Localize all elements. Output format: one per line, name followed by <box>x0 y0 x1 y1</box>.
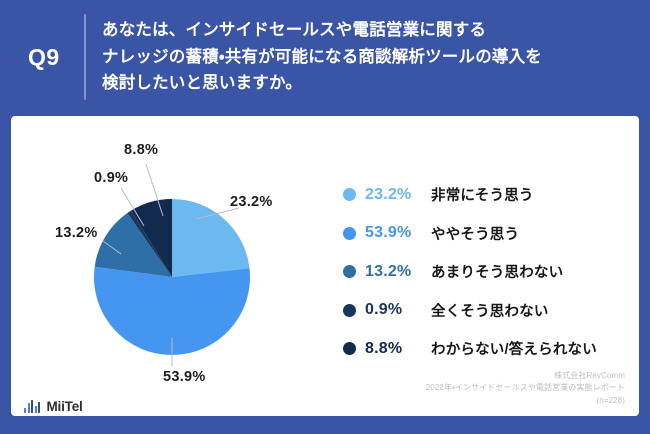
legend-percent: 0.9% <box>365 301 431 319</box>
legend-row: 0.9%全くそう思わない <box>343 294 633 327</box>
legend-color-dot <box>343 188 356 201</box>
header-divider <box>84 14 86 100</box>
question-text: あなたは、インサイドセールスや電話営業に関する ナレッジの蓄積・共有が可能になる… <box>102 17 542 97</box>
credits-company: 株式会社RevComm <box>426 370 625 382</box>
slide-root: Q9 あなたは、インサイドセールスや電話営業に関する ナレッジの蓄積・共有が可能… <box>0 0 650 434</box>
legend-label: 非常にそう思う <box>431 184 534 205</box>
pie-label-somewhat-disagree: 13.2% <box>55 225 98 241</box>
legend-label: わからない/答えられない <box>431 338 597 359</box>
question-number: Q9 <box>22 46 84 69</box>
pie-chart-svg <box>11 116 331 384</box>
chart-legend: 23.2%非常にそう思う53.9%ややそう思う13.2%あまりそう思わない0.9… <box>343 178 633 371</box>
legend-percent: 23.2% <box>365 186 431 204</box>
pie-slice-group <box>94 199 250 355</box>
legend-color-dot <box>343 265 356 278</box>
pie-chart: 23.2% 53.9% 13.2% 0.9% 8.8% <box>11 116 331 384</box>
legend-percent: 8.8% <box>365 340 431 358</box>
legend-percent: 13.2% <box>365 263 431 281</box>
legend-label: あまりそう思わない <box>431 261 563 282</box>
legend-label: ややそう思う <box>431 223 519 244</box>
pie-slice <box>172 199 250 277</box>
legend-row: 53.9%ややそう思う <box>343 217 633 250</box>
credits-report: 2022年・インサイドセールスや電話営業の実態レポート <box>426 382 625 394</box>
legend-percent: 53.9% <box>365 224 431 242</box>
legend-label: 全くそう思わない <box>431 300 549 321</box>
legend-color-dot <box>343 342 356 355</box>
question-header: Q9 あなたは、インサイドセールスや電話営業に関する ナレッジの蓄積・共有が可能… <box>0 0 650 114</box>
credits-sample-size: (n=228) <box>426 395 625 407</box>
pie-label-dont-know: 8.8% <box>124 142 158 158</box>
slide-footer: MiiTel <box>11 416 639 434</box>
miitel-logo: MiiTel <box>24 400 83 413</box>
pie-label-very-agree: 23.2% <box>230 194 273 210</box>
legend-row: 23.2%非常にそう思う <box>343 178 633 211</box>
legend-row: 8.8%わからない/答えられない <box>343 332 633 365</box>
pie-label-strongly-disagree: 0.9% <box>94 170 128 186</box>
pie-label-somewhat-agree: 53.9% <box>163 369 206 385</box>
miitel-logo-text: MiiTel <box>47 400 83 413</box>
legend-color-dot <box>343 304 356 317</box>
credits-block: 株式会社RevComm 2022年・インサイドセールスや電話営業の実態レポート … <box>426 370 625 407</box>
legend-color-dot <box>343 227 356 240</box>
chart-card: 23.2% 53.9% 13.2% 0.9% 8.8% 23.2%非常にそう思う… <box>11 116 639 416</box>
waveform-icon <box>24 400 42 413</box>
legend-row: 13.2%あまりそう思わない <box>343 255 633 288</box>
